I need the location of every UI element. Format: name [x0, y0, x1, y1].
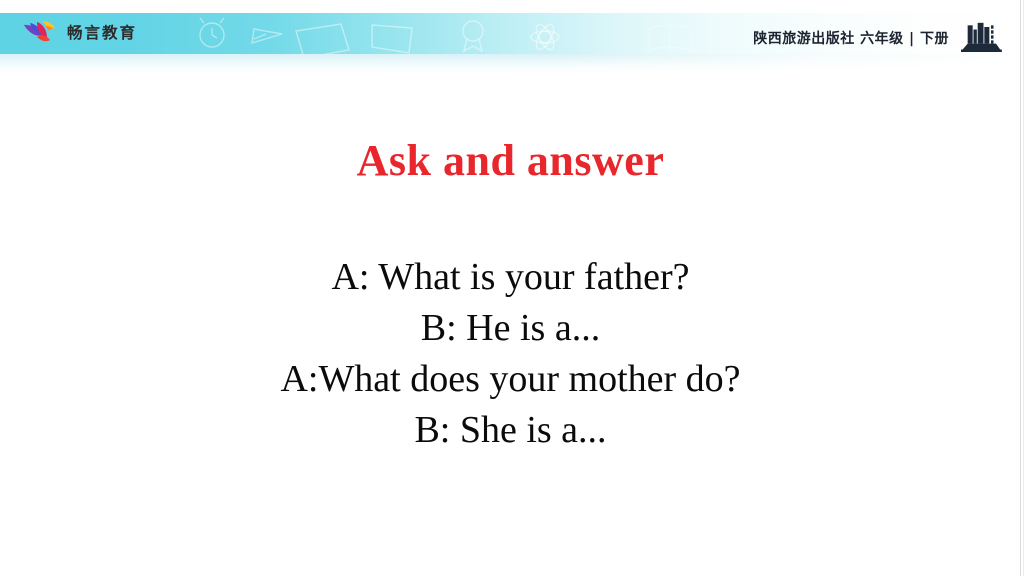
dialogue-line: A:What does your mother do? [0, 354, 1021, 405]
header-top-margin [0, 0, 1021, 13]
dialogue-line: B: He is a... [0, 303, 1021, 354]
slide-header: 畅言教育 陕西旅游出版社 六年级 | 下册 [0, 0, 1021, 76]
publisher-info-label: 陕西旅游出版社 六年级 | 下册 [753, 28, 949, 48]
slide-canvas: 畅言教育 陕西旅游出版社 六年级 | 下册 Ask and answer A: … [0, 0, 1024, 576]
dialogue-line: B: She is a... [0, 405, 1021, 456]
books-stack-icon [959, 22, 1003, 52]
brand-lockup[interactable]: 畅言教育 [22, 17, 137, 47]
dialogue-line: A: What is your father? [0, 252, 1021, 303]
slide-title: Ask and answer [0, 132, 1021, 190]
header-bottom-fade-right [0, 54, 1021, 74]
slide-right-border [1020, 0, 1021, 576]
dialogue-block: A: What is your father? B: He is a... A:… [0, 252, 1021, 456]
brand-name-label: 畅言教育 [67, 21, 137, 43]
bird-logo-icon [22, 17, 58, 47]
